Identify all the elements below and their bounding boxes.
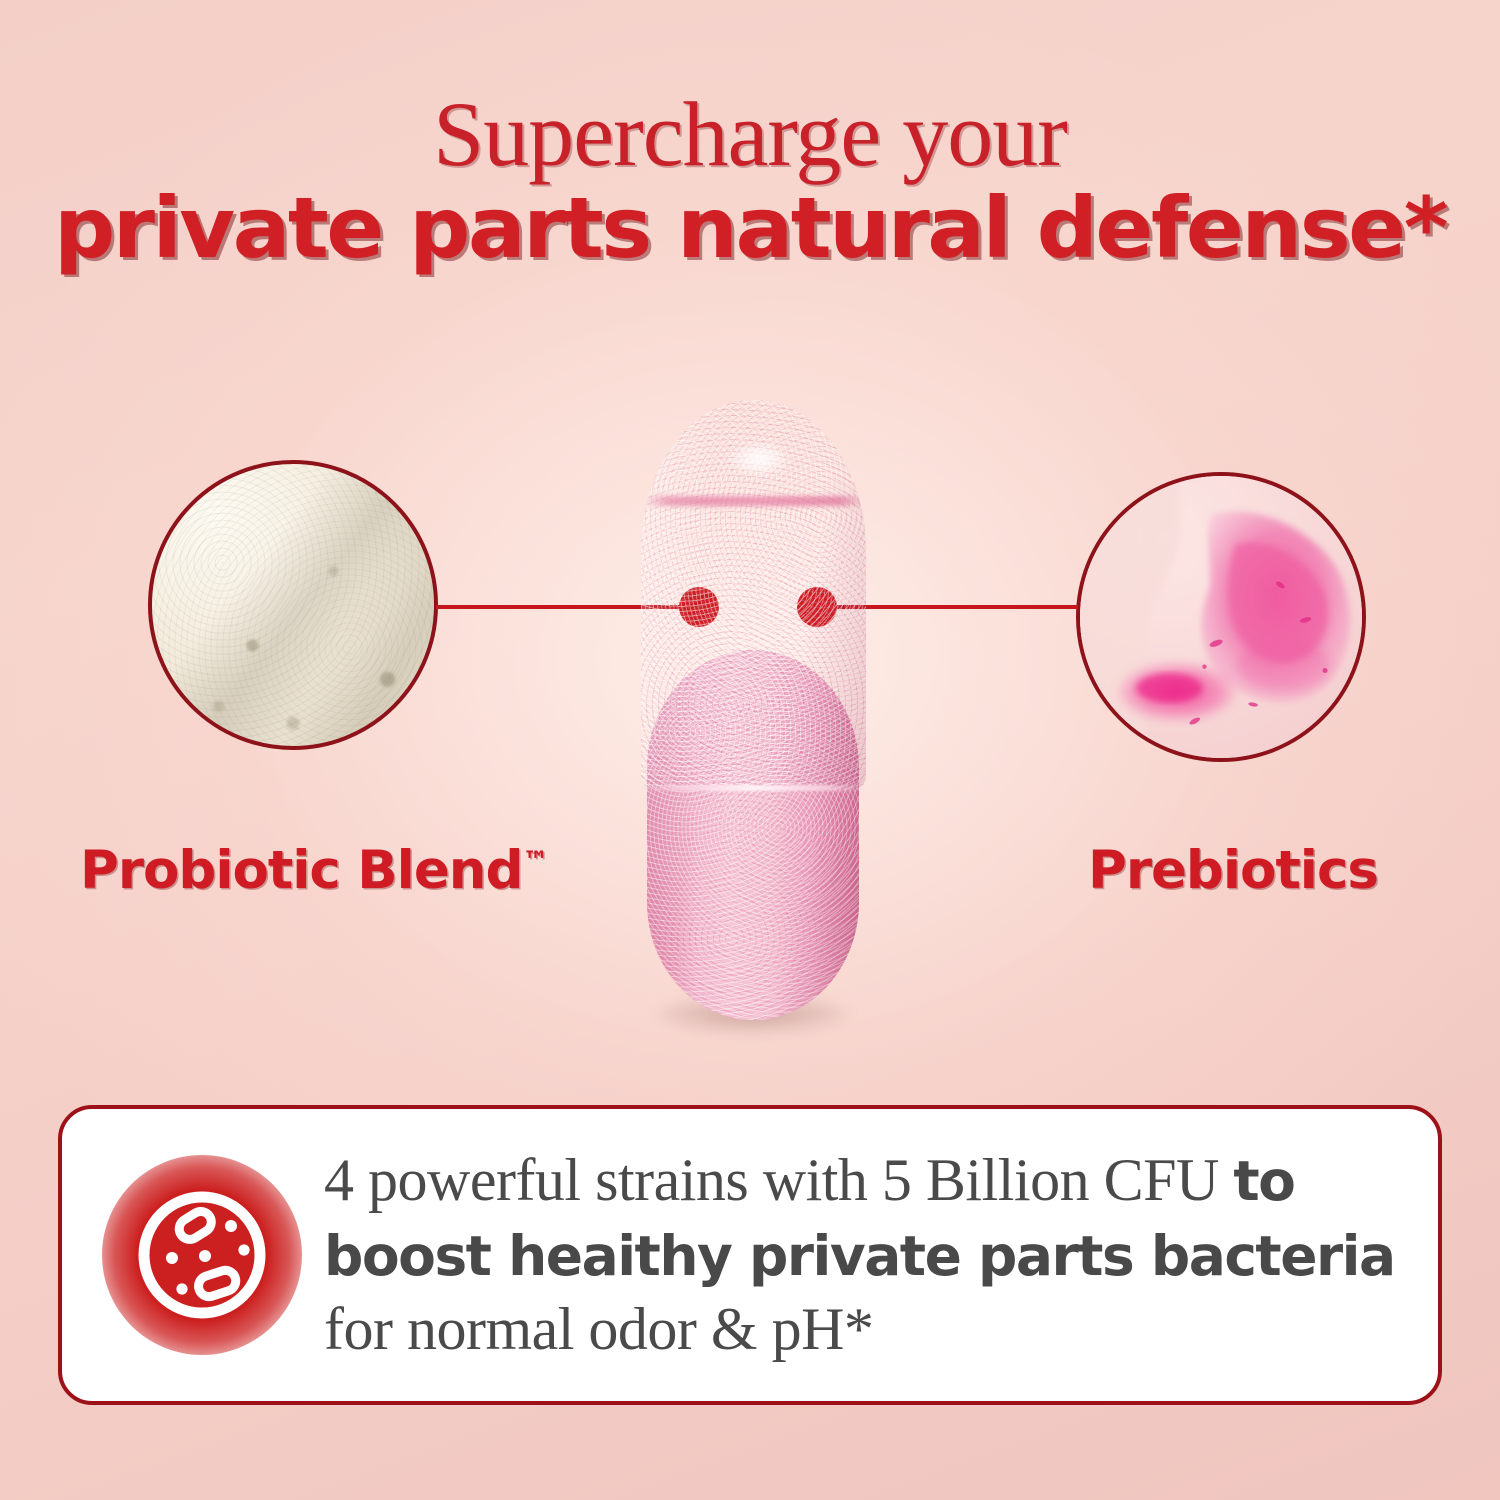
headline-line-1: Supercharge your bbox=[0, 88, 1500, 180]
bacteria-cell-icon bbox=[102, 1155, 302, 1355]
trademark-symbol: ™ bbox=[522, 846, 548, 876]
headline: Supercharge your private parts natural d… bbox=[0, 88, 1500, 270]
capsule-seam bbox=[641, 785, 866, 791]
claim-text: 4 powerful strains with 5 Billion CFU to… bbox=[324, 1143, 1404, 1366]
prebiotic-tissue-pattern bbox=[1080, 476, 1362, 758]
powder-speckle-texture bbox=[152, 464, 434, 746]
product-infographic: Supercharge your private parts natural d… bbox=[0, 0, 1500, 1500]
probiotic-blend-label-text: Probiotic Blend bbox=[80, 840, 522, 901]
claim-text-part1: 4 powerful strains with 5 Billion CFU bbox=[324, 1147, 1233, 1213]
prebiotic-gel-swatch bbox=[1076, 472, 1366, 762]
capsule-image bbox=[641, 400, 866, 1020]
bacteria-cell-glyph bbox=[102, 1155, 302, 1355]
capsule-cap bbox=[641, 400, 866, 790]
capsule-cap-band bbox=[641, 496, 866, 506]
prebiotics-label-text: Prebiotics bbox=[1088, 840, 1378, 901]
probiotic-blend-label: Probiotic Blend™ bbox=[80, 840, 548, 901]
headline-line-2: private parts natural defense* bbox=[0, 186, 1500, 270]
claim-callout-box: 4 powerful strains with 5 Billion CFU to… bbox=[58, 1105, 1442, 1405]
prebiotics-label: Prebiotics bbox=[1088, 840, 1378, 901]
capsule-highlight bbox=[729, 442, 789, 476]
probiotic-powder-swatch bbox=[148, 460, 438, 750]
claim-text-part2: for normal odor & pH* bbox=[324, 1296, 873, 1362]
